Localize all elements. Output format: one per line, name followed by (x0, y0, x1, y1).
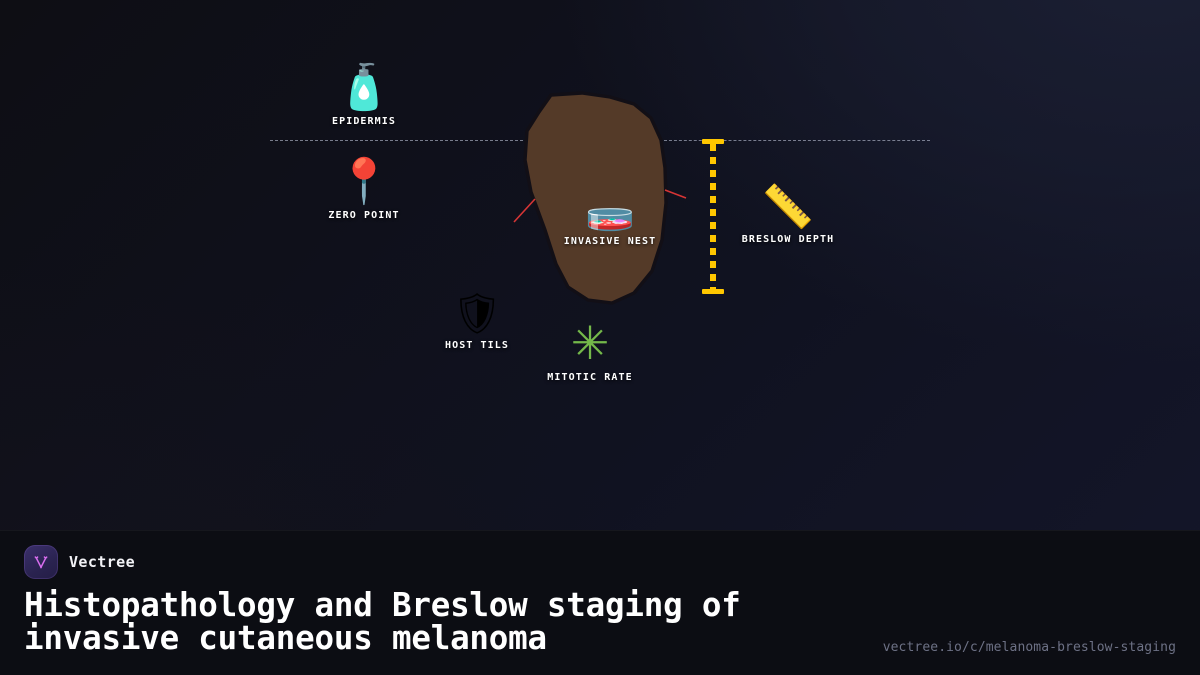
slide-canvas: 🧴 EPIDERMIS 📍 ZERO POINT 🧫 INVASIVE NEST… (0, 0, 1200, 675)
page-title: Histopathology and Breslow staging of in… (24, 589, 904, 655)
node-label-zero-point: ZERO POINT (284, 210, 444, 221)
node-label-epidermis: EPIDERMIS (284, 116, 444, 127)
pushpin-icon: 📍 (284, 160, 444, 204)
brand-name: Vectree (69, 553, 135, 571)
bracket-cap-bottom (702, 289, 724, 294)
node-label-mitotic-rate: MITOTIC RATE (510, 372, 670, 383)
footer-panel: Vectree Histopathology and Breslow stagi… (0, 530, 1200, 675)
node-breslow-depth[interactable]: 📏 BRESLOW DEPTH (708, 186, 868, 245)
node-invasive-nest[interactable]: 🧫 INVASIVE NEST (530, 190, 690, 247)
vectree-logo-icon (24, 545, 58, 579)
lesion-layer (0, 0, 1200, 530)
petri-dish-icon: 🧫 (530, 190, 690, 230)
diagram-area: 🧴 EPIDERMIS 📍 ZERO POINT 🧫 INVASIVE NEST… (0, 0, 1200, 530)
eight-spoked-asterisk-icon: ✳ (510, 320, 670, 366)
straight-ruler-icon: 📏 (708, 186, 868, 228)
node-zero-point[interactable]: 📍 ZERO POINT (284, 160, 444, 221)
soap-dispenser-icon: 🧴 (284, 66, 444, 110)
brand-row: Vectree (24, 545, 135, 579)
node-label-breslow-depth: BRESLOW DEPTH (708, 234, 868, 245)
node-epidermis[interactable]: 🧴 EPIDERMIS (284, 66, 444, 127)
node-label-invasive-nest: INVASIVE NEST (530, 236, 690, 247)
node-mitotic-rate[interactable]: ✳ MITOTIC RATE (510, 320, 670, 383)
footer-url: vectree.io/c/melanoma-breslow-staging (883, 640, 1176, 655)
